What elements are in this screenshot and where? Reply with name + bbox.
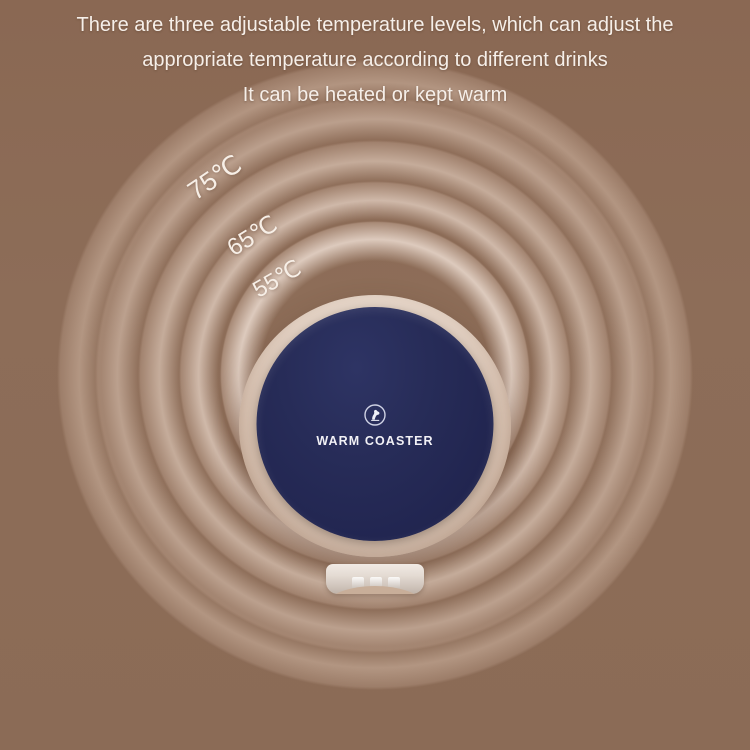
- brand-lockup: WARM COASTER: [275, 403, 475, 448]
- headline-line-1: There are three adjustable temperature l…: [0, 8, 750, 43]
- headline-line-3: It can be heated or kept warm: [0, 78, 750, 113]
- headline-text: There are three adjustable temperature l…: [0, 8, 750, 113]
- brand-emblem-icon: [363, 403, 387, 427]
- indicator-led-1: [352, 577, 364, 590]
- brand-name: WARM COASTER: [275, 434, 475, 448]
- indicator-light-bar: [326, 564, 424, 594]
- product-feature-graphic: There are three adjustable temperature l…: [0, 0, 750, 750]
- indicator-led-2: [370, 577, 382, 590]
- headline-line-2: appropriate temperature according to dif…: [0, 43, 750, 78]
- indicator-led-3: [388, 577, 400, 590]
